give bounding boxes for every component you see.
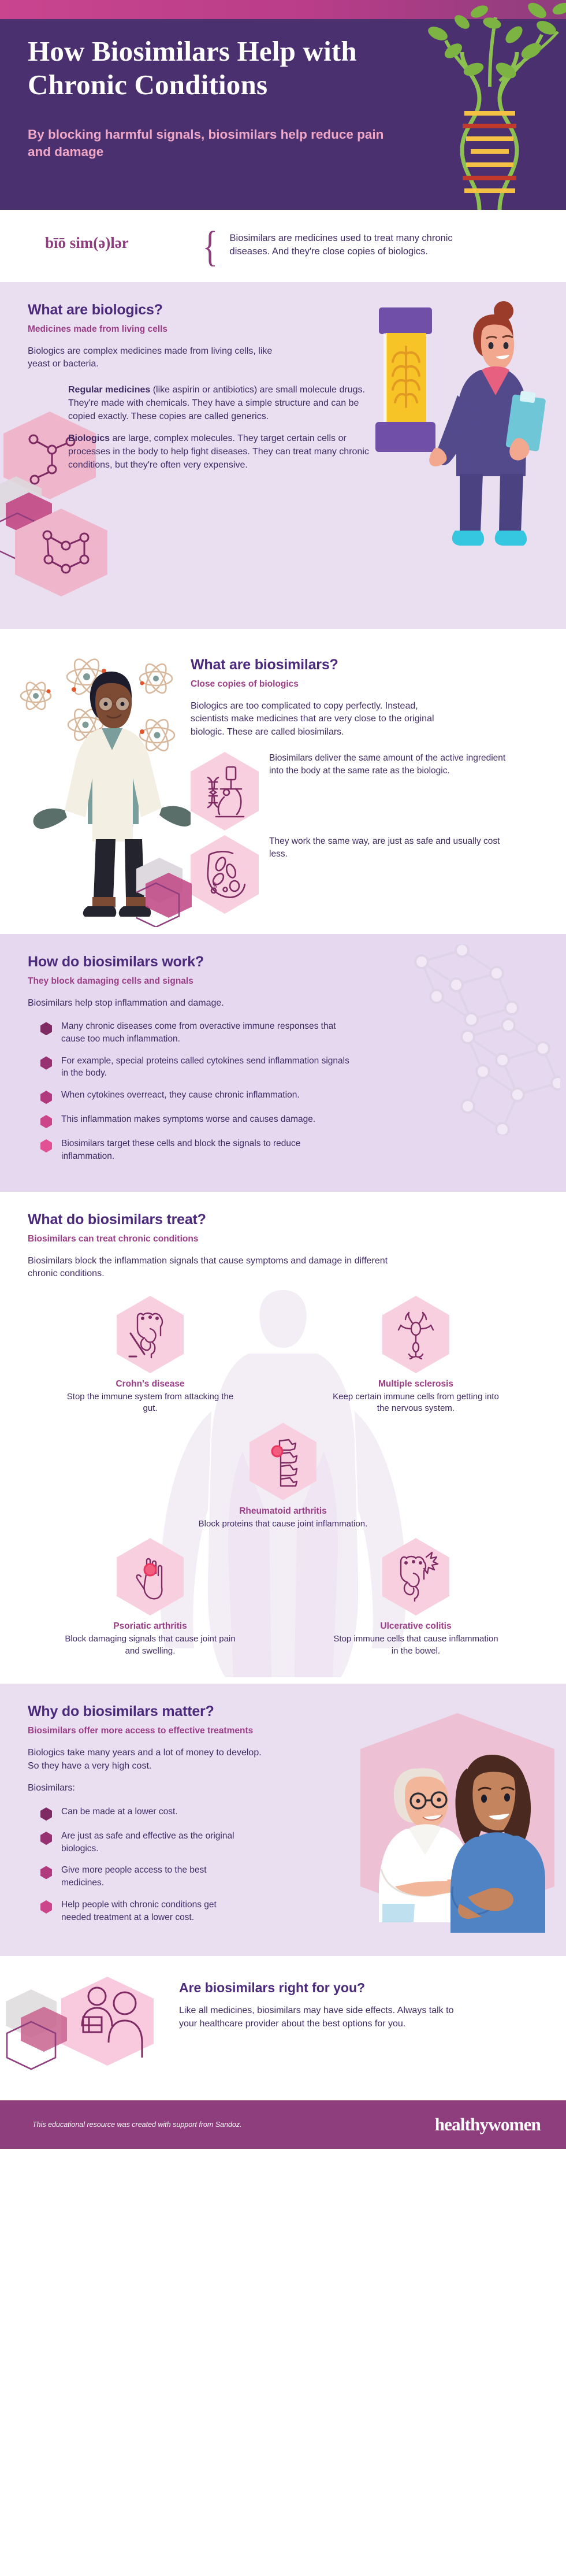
colon-icon bbox=[382, 1538, 449, 1615]
pronunciation-block: bīō sim(ə)lər { Biosimilars are medicine… bbox=[0, 210, 566, 282]
list-item-text: This inflammation makes symptoms worse a… bbox=[61, 1113, 315, 1126]
biologics-definitions: Regular medicines (like aspirin or antib… bbox=[28, 384, 380, 472]
hand-icon bbox=[117, 1538, 184, 1615]
condition-name: Ulcerative colitis bbox=[329, 1621, 502, 1632]
condition-name: Multiple sclerosis bbox=[329, 1379, 502, 1389]
page-title: How Biosimilars Help with Chronic Condit… bbox=[28, 35, 432, 102]
matter-title: Why do biosimilars matter? bbox=[28, 1703, 538, 1720]
list-item-text: Give more people access to the best medi… bbox=[61, 1864, 234, 1889]
hexagon-bullet-icon bbox=[40, 1115, 52, 1128]
page-subtitle: By blocking harmful signals, biosimilars… bbox=[28, 126, 409, 161]
howwork-bullet-list: Many chronic diseases come from overacti… bbox=[28, 1020, 538, 1162]
section-what-do-biosimilars-treat: What do biosimilars treat? Biosimilars c… bbox=[0, 1192, 566, 1684]
healthywomen-logo: healthywomen bbox=[435, 2114, 541, 2135]
conditions-grid: Crohn's disease Stop the immune system f… bbox=[0, 1296, 566, 1657]
matter-intro: Biologics take many years and a lot of m… bbox=[28, 1747, 270, 1773]
list-item: This inflammation makes symptoms worse a… bbox=[28, 1113, 538, 1128]
matter-lead: Biosimilars: bbox=[28, 1782, 351, 1795]
condition-crohns-disease: Crohn's disease Stop the immune system f… bbox=[64, 1296, 237, 1415]
hexagon-bullet-icon bbox=[40, 1900, 52, 1914]
definition-regular-medicines: Regular medicines (like aspirin or antib… bbox=[68, 384, 380, 423]
neuron-icon bbox=[382, 1296, 449, 1373]
microscope-dna-hexagon-icon bbox=[191, 752, 259, 831]
list-item-text: Help people with chronic conditions get … bbox=[61, 1899, 234, 1923]
condition-desc: Keep certain immune cells from getting i… bbox=[329, 1391, 502, 1415]
condition-psoriatic-arthritis: Psoriatic arthritis Block damaging signa… bbox=[64, 1538, 237, 1657]
page-footer: This educational resource was created wi… bbox=[0, 2100, 566, 2149]
howwork-intro: Biosimilars help stop inflammation and d… bbox=[28, 997, 397, 1010]
list-item-text: Biosimilars target these cells and block… bbox=[61, 1137, 356, 1162]
section-why-do-biosimilars-matter: Why do biosimilars matter? Biosimilars o… bbox=[0, 1684, 566, 1956]
hexagon-bullet-icon bbox=[40, 1139, 52, 1152]
matter-subtitle: Biosimilars offer more access to effecti… bbox=[28, 1726, 538, 1736]
list-item-text: For example, special proteins called cyt… bbox=[61, 1055, 356, 1080]
list-item-text: Can be made at a lower cost. bbox=[61, 1806, 178, 1818]
brace-glyph: { bbox=[202, 229, 218, 265]
condition-multiple-sclerosis: Multiple sclerosis Keep certain immune c… bbox=[329, 1296, 502, 1415]
spine-icon bbox=[250, 1423, 316, 1500]
section-how-do-biosimilars-work: How do biosimilars work? They block dama… bbox=[0, 934, 566, 1192]
list-item-text: Many chronic diseases come from overacti… bbox=[61, 1020, 356, 1045]
biologics-intro: Biologics are complex medicines made fro… bbox=[28, 345, 276, 371]
infographic-page: How Biosimilars Help with Chronic Condit… bbox=[0, 0, 566, 2149]
definition-term: Biologics bbox=[68, 433, 110, 443]
condition-name: Crohn's disease bbox=[64, 1379, 237, 1389]
list-item: Give more people access to the best medi… bbox=[28, 1864, 538, 1889]
hero-header: How Biosimilars Help with Chronic Condit… bbox=[0, 0, 566, 210]
section-what-are-biologics: What are biologics? Medicines made from … bbox=[0, 282, 566, 629]
list-item: Biosimilars target these cells and block… bbox=[28, 1137, 538, 1162]
hexagon-accent-cluster bbox=[136, 858, 217, 927]
biosimilars-content: What are biosimilars? Close copies of bi… bbox=[191, 651, 538, 917]
footer-credit: This educational resource was created wi… bbox=[32, 2121, 242, 2129]
hexagon-bullet-icon bbox=[40, 1866, 52, 1879]
list-item: Many chronic diseases come from overacti… bbox=[28, 1020, 538, 1045]
biosimilars-point-microscope: Biosimilars deliver the same amount of t… bbox=[191, 752, 538, 831]
list-item: When cytokines overreact, they cause chr… bbox=[28, 1089, 538, 1104]
definition-term: Regular medicines bbox=[68, 385, 150, 395]
biosimilars-paragraph-2: Biosimilars deliver the same amount of t… bbox=[269, 752, 517, 777]
hexagon-bullet-icon bbox=[40, 1832, 52, 1845]
right-for-you-title: Are biosimilars right for you? bbox=[179, 1980, 456, 1996]
definition-biologics: Biologics are large, complex molecules. … bbox=[68, 432, 380, 472]
right-for-you-content: Are biosimilars right for you? Like all … bbox=[179, 1973, 456, 2030]
biosimilars-paragraph-1: Biologics are too complicated to copy pe… bbox=[191, 700, 450, 739]
consultation-icon-cluster bbox=[6, 1973, 179, 2083]
list-item: Are just as safe and effective as the or… bbox=[28, 1830, 538, 1855]
howwork-title: How do biosimilars work? bbox=[28, 954, 538, 970]
biosimilars-paragraph-3: They work the same way, are just as safe… bbox=[269, 835, 517, 861]
hexagon-bullet-icon bbox=[40, 1091, 52, 1104]
pronunciation-definition: Biosimilars are medicines used to treat … bbox=[230, 229, 472, 259]
condition-desc: Stop immune cells that cause inflammatio… bbox=[329, 1633, 502, 1657]
biosimilars-point-cost: $ They work the same way, are just as sa… bbox=[191, 835, 538, 914]
treat-subtitle: Biosimilars can treat chronic conditions bbox=[28, 1234, 538, 1244]
condition-desc: Block proteins that cause joint inflamma… bbox=[196, 1518, 370, 1530]
condition-ulcerative-colitis: Ulcerative colitis Stop immune cells tha… bbox=[329, 1538, 502, 1657]
matter-bullet-list: Can be made at a lower cost. Are just as… bbox=[28, 1806, 538, 1923]
definition-text: are large, complex molecules. They targe… bbox=[68, 433, 369, 469]
condition-name: Psoriatic arthritis bbox=[64, 1621, 237, 1632]
intestine-icon bbox=[117, 1296, 184, 1373]
list-item: Help people with chronic conditions get … bbox=[28, 1899, 538, 1923]
scientist-vial-illustration bbox=[358, 297, 549, 569]
treat-title: What do biosimilars treat? bbox=[28, 1211, 538, 1228]
section-right-for-you: Are biosimilars right for you? Like all … bbox=[0, 1956, 566, 2100]
hexagon-bullet-icon bbox=[40, 1057, 52, 1070]
condition-rheumatoid-arthritis: Rheumatoid arthritis Block proteins that… bbox=[196, 1423, 370, 1530]
section-what-are-biosimilars: What are biosimilars? Close copies of bi… bbox=[0, 629, 566, 934]
treat-intro: Biosimilars block the inflammation signa… bbox=[28, 1255, 397, 1281]
biosimilars-subtitle: Close copies of biologics bbox=[191, 679, 538, 690]
condition-desc: Block damaging signals that cause joint … bbox=[64, 1633, 237, 1657]
list-item-text: When cytokines overreact, they cause chr… bbox=[61, 1089, 300, 1102]
pronunciation-word: bīō sim(ə)lər bbox=[23, 229, 196, 252]
biosimilars-title: What are biosimilars? bbox=[191, 657, 538, 673]
hexagon-bullet-icon bbox=[40, 1022, 52, 1035]
hexagon-bullet-icon bbox=[40, 1807, 52, 1821]
condition-desc: Stop the immune system from attacking th… bbox=[64, 1391, 237, 1415]
condition-name: Rheumatoid arthritis bbox=[196, 1506, 370, 1517]
list-item-text: Are just as safe and effective as the or… bbox=[61, 1830, 234, 1855]
list-item: For example, special proteins called cyt… bbox=[28, 1055, 538, 1080]
list-item: Can be made at a lower cost. bbox=[28, 1806, 538, 1821]
howwork-subtitle: They block damaging cells and signals bbox=[28, 976, 538, 987]
right-for-you-text: Like all medicines, biosimilars may have… bbox=[179, 2004, 456, 2030]
